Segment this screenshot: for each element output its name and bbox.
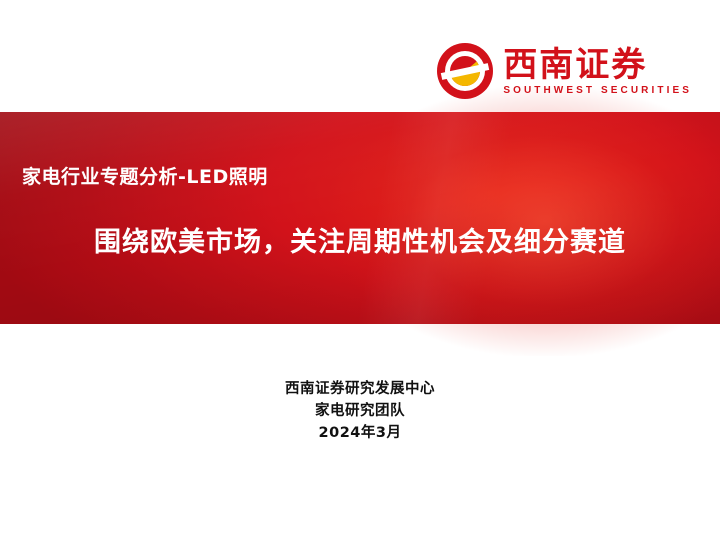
logo-name-cn: 西南证券 xyxy=(503,46,692,84)
footer-institution: 西南证券研究发展中心 xyxy=(0,378,720,400)
footer-date: 2024年3月 xyxy=(0,422,720,444)
logo-name-en: SOUTHWEST SECURITIES xyxy=(503,84,692,97)
company-logo: 西南证券 SOUTHWEST SECURITIES xyxy=(437,40,692,102)
report-subtitle: 家电行业专题分析-LED照明 xyxy=(22,162,268,189)
logo-emblem-icon xyxy=(437,43,493,99)
report-title: 围绕欧美市场，关注周期性机会及细分赛道 xyxy=(0,220,720,259)
footer-team: 家电研究团队 xyxy=(0,400,720,422)
title-banner: 家电行业专题分析-LED照明 围绕欧美市场，关注周期性机会及细分赛道 xyxy=(0,112,720,324)
logo-wordmark: 西南证券 SOUTHWEST SECURITIES xyxy=(503,46,692,97)
footer-block: 西南证券研究发展中心 家电研究团队 2024年3月 xyxy=(0,378,720,444)
banner-sheen xyxy=(0,112,720,324)
title-slide: 西南证券 SOUTHWEST SECURITIES 家电行业专题分析-LED照明… xyxy=(0,0,720,540)
